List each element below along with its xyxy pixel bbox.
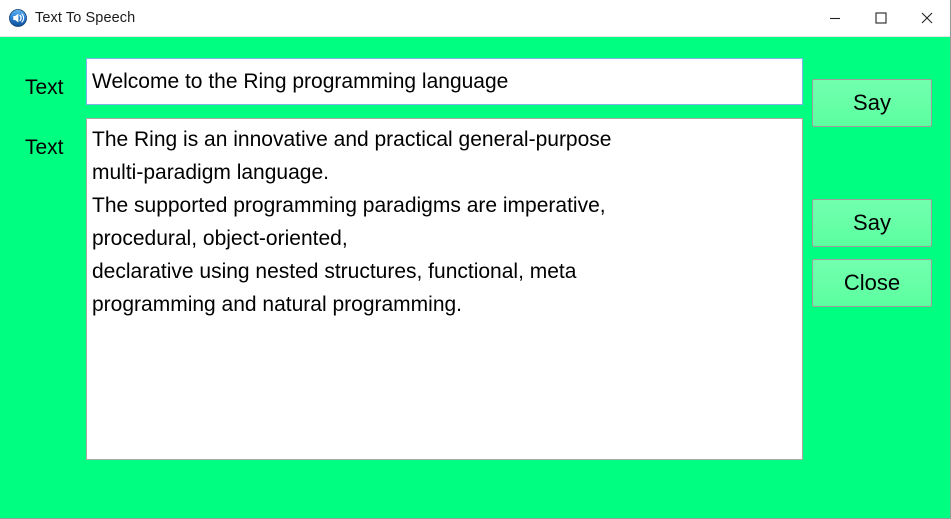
speaker-icon xyxy=(9,9,27,27)
maximize-button[interactable] xyxy=(858,0,904,36)
close-icon xyxy=(921,12,933,24)
title-bar-left: Text To Speech xyxy=(0,9,812,27)
text-input-label: Text xyxy=(25,77,64,98)
text-area[interactable] xyxy=(86,118,803,460)
window-controls xyxy=(812,0,950,36)
application-window: Text To Speech Tex xyxy=(0,0,951,519)
title-bar: Text To Speech xyxy=(0,0,950,37)
text-area-label: Text xyxy=(25,137,64,158)
minimize-icon xyxy=(829,12,841,24)
text-input[interactable] xyxy=(86,58,803,105)
say-line-button[interactable]: Say xyxy=(812,79,932,127)
close-button[interactable] xyxy=(904,0,950,36)
minimize-button[interactable] xyxy=(812,0,858,36)
maximize-icon xyxy=(875,12,887,24)
say-paragraph-button[interactable]: Say xyxy=(812,199,932,247)
close-window-button[interactable]: Close xyxy=(812,259,932,307)
form-area: Text Say Text Say Close xyxy=(0,37,950,518)
window-title: Text To Speech xyxy=(35,10,135,26)
